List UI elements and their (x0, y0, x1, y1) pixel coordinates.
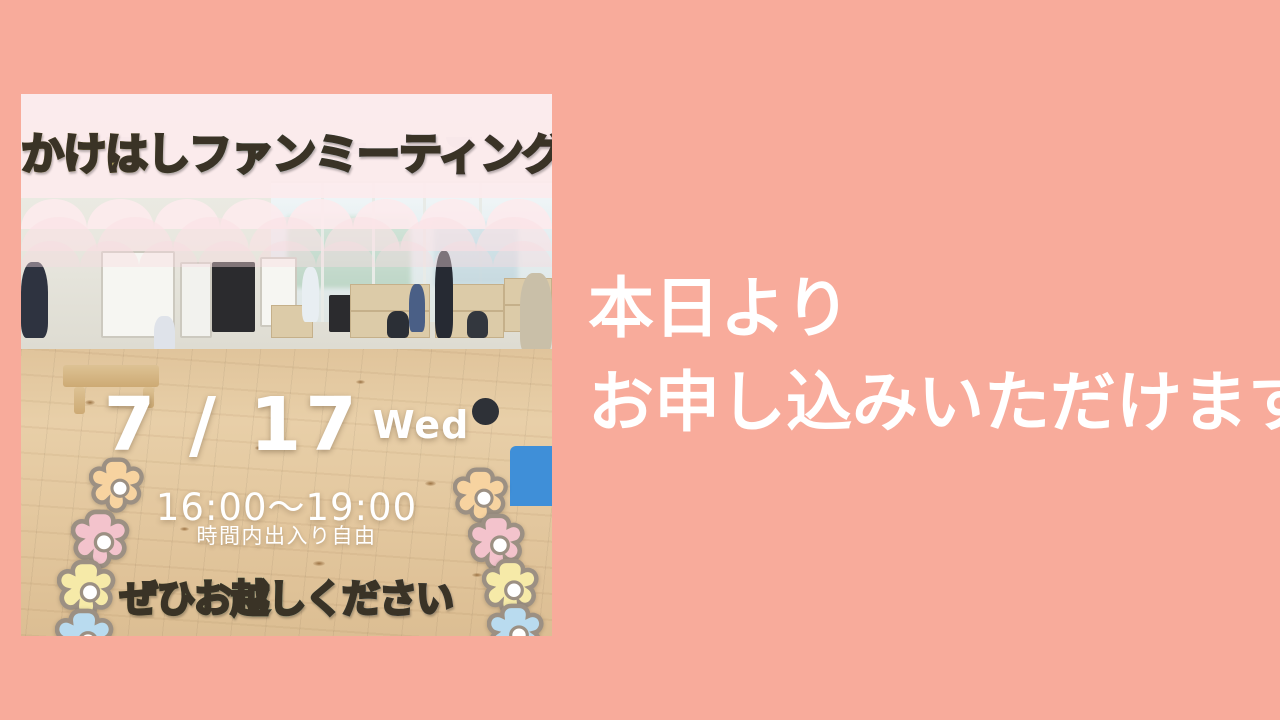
cabinet (180, 262, 212, 338)
bag (467, 311, 488, 338)
headline: 本日より お申し込みいただけます (588, 262, 1268, 449)
event-date-line: 7 / 17Wed (21, 382, 552, 468)
event-poster[interactable]: かけはしファンミーティング (21, 94, 552, 636)
person-standing (302, 267, 319, 321)
person-standing (21, 262, 48, 338)
person-seated (520, 273, 552, 354)
dark-cabinet (212, 262, 254, 332)
poster-title: かけはしファンミーティング (21, 120, 552, 182)
event-date: 7 / 17 (104, 382, 361, 468)
event-time-note: 時間内出入り自由 (21, 520, 552, 550)
headline-line-2: お申し込みいただけます (588, 356, 1268, 450)
person-standing (409, 284, 425, 333)
bag (387, 311, 408, 338)
event-day-of-week: Wed (373, 403, 470, 447)
headline-line-1: 本日より (588, 262, 1268, 356)
poster-call-to-action: ぜひお越しください (21, 568, 552, 623)
